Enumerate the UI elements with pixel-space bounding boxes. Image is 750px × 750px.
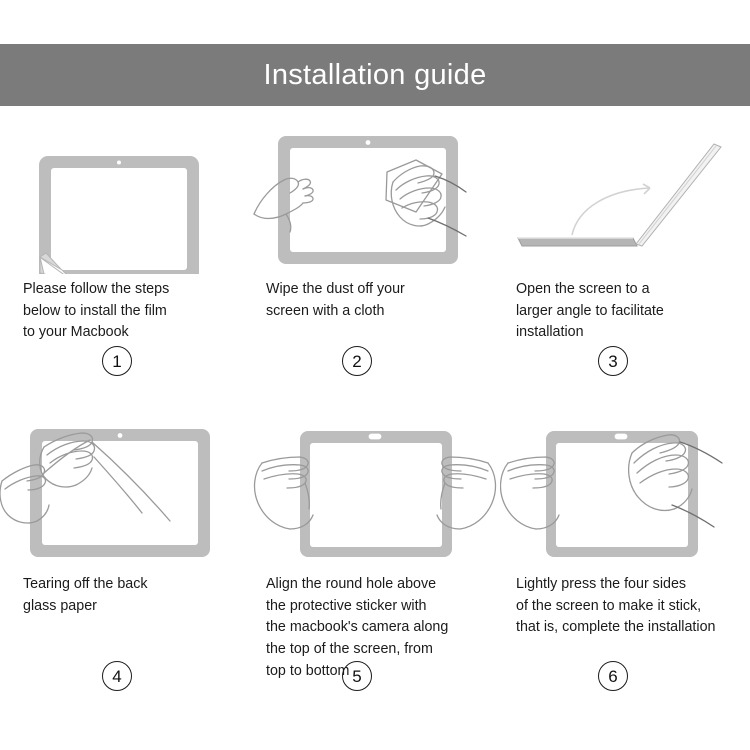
step-1-caption: Please follow the steps below to install… (0, 279, 250, 344)
step-number-badge-6: 6 (598, 661, 628, 691)
header-banner: Installation guide (0, 44, 750, 106)
step-4-illustration (0, 417, 250, 569)
two-hands-aligning-film-on-screen-icon (250, 417, 500, 569)
page-title: Installation guide (263, 61, 486, 90)
hand-peeling-back-paper-icon (0, 417, 250, 569)
hands-pressing-film-onto-screen-icon (500, 417, 750, 569)
steps-grid: Please follow the steps below to install… (0, 122, 750, 717)
step-card-6: Lightly press the four sides of the scre… (500, 417, 750, 717)
hand-wiping-screen-with-cloth-icon (250, 122, 500, 274)
step-number-badge-1: 1 (102, 346, 132, 376)
step-5-illustration (250, 417, 500, 569)
step-number-badge-3: 3 (598, 346, 628, 376)
step-2-caption: Wipe the dust off your screen with a clo… (250, 279, 500, 322)
step-6-illustration (500, 417, 750, 569)
step-card-1: Please follow the steps below to install… (0, 122, 250, 417)
macbook-screen-with-peeling-film-corner-icon (0, 122, 250, 274)
step-number-badge-2: 2 (342, 346, 372, 376)
step-3-illustration (500, 122, 750, 274)
step-3-caption: Open the screen to a larger angle to fac… (500, 279, 750, 344)
step-5-caption: Align the round hole above the protectiv… (250, 574, 500, 683)
step-1-illustration (0, 122, 250, 274)
laptop-side-view-opening-lid-icon (500, 122, 750, 274)
step-card-5: Align the round hole above the protectiv… (250, 417, 500, 717)
step-6-caption: Lightly press the four sides of the scre… (500, 574, 750, 639)
step-card-2: Wipe the dust off your screen with a clo… (250, 122, 500, 417)
installation-guide-page: Installation guide Please follow the ste… (0, 0, 750, 750)
step-2-illustration (250, 122, 500, 274)
step-4-caption: Tearing off the back glass paper (0, 574, 250, 617)
step-card-3: Open the screen to a larger angle to fac… (500, 122, 750, 417)
step-number-badge-5: 5 (342, 661, 372, 691)
step-card-4: Tearing off the back glass paper 4 (0, 417, 250, 717)
step-number-badge-4: 4 (102, 661, 132, 691)
